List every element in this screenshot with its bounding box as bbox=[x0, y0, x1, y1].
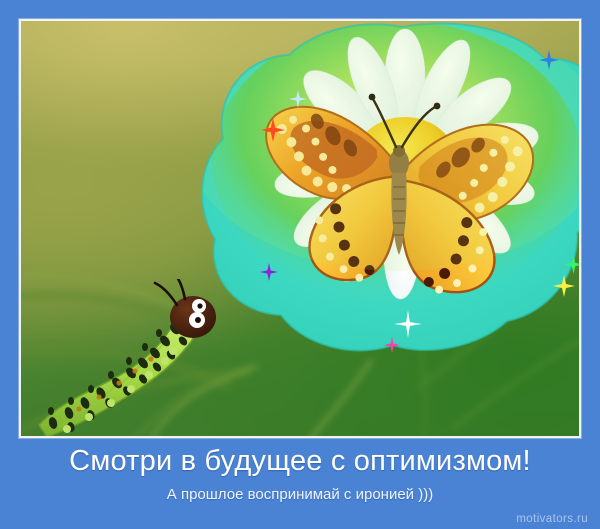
caterpillar-antenna-right bbox=[177, 279, 185, 299]
watermark: motivators.ru bbox=[516, 513, 588, 525]
caterpillar bbox=[37, 279, 227, 436]
caterpillar-body bbox=[39, 318, 196, 436]
caption-main: Смотри в будущее с оптимизмом! bbox=[0, 443, 600, 479]
photo-frame bbox=[19, 19, 581, 438]
photo-image bbox=[21, 21, 579, 436]
caterpillar-antenna-left bbox=[155, 283, 177, 305]
thought-cloud bbox=[197, 21, 579, 356]
motivator-poster: Смотри в будущее с оптимизмом! А прошлое… bbox=[0, 0, 600, 529]
caption-sub: А прошлое воспринимай с иронией ))) bbox=[0, 485, 600, 505]
caterpillar-head bbox=[155, 279, 216, 338]
